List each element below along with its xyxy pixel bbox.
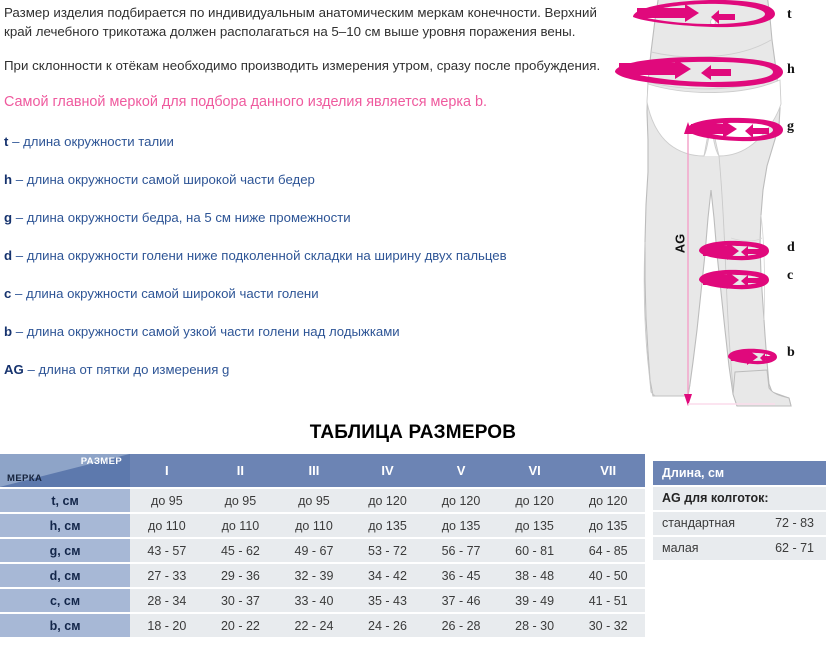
cell-d-4: 34 - 42 — [351, 564, 425, 587]
legend-key-h: h — [4, 172, 12, 187]
illustration-label-h: h — [787, 62, 795, 78]
cell-h-7: до 135 — [571, 514, 645, 537]
cell-t-7: до 120 — [571, 489, 645, 512]
cell-t-6: до 120 — [498, 489, 572, 512]
corner-merka-label: МЕРКА — [7, 473, 42, 484]
illustration-label-t: t — [787, 7, 792, 23]
legend-dash-b: – — [16, 324, 23, 339]
size-chart-page: Размер изделия подбирается по индивидуал… — [0, 0, 826, 651]
length-panel: Длина, см AG для колготок: стандартная 7… — [653, 452, 826, 560]
legend-desc-b: длина окружности самой узкой части голен… — [27, 324, 400, 339]
cell-h-3: до 110 — [277, 514, 351, 537]
table-row: d, см 27 - 33 29 - 36 32 - 39 34 - 42 36… — [0, 564, 645, 587]
cell-t-5: до 120 — [424, 489, 498, 512]
intro-paragraph-1: Размер изделия подбирается по индивидуал… — [4, 4, 604, 41]
legend-item-g: g – длина окружности бедра, на 5 см ниже… — [4, 210, 607, 226]
measurement-legend-list: t – длина окружности талии h – длина окр… — [4, 134, 607, 378]
cell-b-1: 18 - 20 — [130, 614, 204, 637]
length-row-standard: стандартная 72 - 83 — [653, 512, 826, 535]
length-panel-subtitle: AG для колготок: — [653, 487, 826, 510]
legend-dash-c: – — [15, 286, 22, 301]
illustration-label-ag: AG — [672, 234, 687, 254]
size-table-header-row: РАЗМЕР МЕРКА I II III IV V VI VII — [0, 454, 645, 487]
table-row: c, см 28 - 34 30 - 37 33 - 40 35 - 43 37… — [0, 589, 645, 612]
cell-h-1: до 110 — [130, 514, 204, 537]
cell-d-6: 38 - 48 — [498, 564, 572, 587]
length-row-standard-label: стандартная — [662, 516, 735, 530]
cell-g-1: 43 - 57 — [130, 539, 204, 562]
legend-desc-d: длина окружности голени ниже подколенной… — [27, 248, 507, 263]
length-row-small: малая 62 - 71 — [653, 537, 826, 560]
legend-item-d: d – длина окружности голени ниже подколе… — [4, 248, 607, 264]
row-header-b: b, см — [0, 614, 130, 637]
cell-d-7: 40 - 50 — [571, 564, 645, 587]
length-row-standard-value: 72 - 83 — [775, 512, 814, 535]
illustration-label-d: d — [787, 240, 795, 256]
table-row: t, см до 95 до 95 до 95 до 120 до 120 до… — [0, 489, 645, 512]
cell-b-4: 24 - 26 — [351, 614, 425, 637]
legend-item-b: b – длина окружности самой узкой части г… — [4, 324, 607, 340]
cell-c-4: 35 - 43 — [351, 589, 425, 612]
column-header-1: I — [130, 454, 204, 487]
legend-desc-t: длина окружности талии — [23, 134, 174, 149]
length-row-small-value: 62 - 71 — [775, 537, 814, 560]
band-d — [699, 241, 769, 260]
legend-desc-ag: длина от пятки до измерения g — [38, 362, 229, 377]
legend-item-t: t – длина окружности талии — [4, 134, 607, 150]
cell-c-5: 37 - 46 — [424, 589, 498, 612]
cell-d-1: 27 - 33 — [130, 564, 204, 587]
legend-key-t: t — [4, 134, 8, 149]
cell-c-1: 28 - 34 — [130, 589, 204, 612]
instructions-column: Размер изделия подбирается по индивидуал… — [0, 0, 615, 415]
length-panel-header: Длина, см — [653, 461, 826, 485]
row-header-d: d, см — [0, 564, 130, 587]
illustration-label-b: b — [787, 345, 795, 361]
panel-divider — [648, 452, 650, 602]
cell-b-2: 20 - 22 — [204, 614, 278, 637]
cell-b-3: 22 - 24 — [277, 614, 351, 637]
cell-d-3: 32 - 39 — [277, 564, 351, 587]
legend-item-h: h – длина окружности самой широкой части… — [4, 172, 607, 188]
legend-key-b: b — [4, 324, 12, 339]
cell-t-2: до 95 — [204, 489, 278, 512]
cell-b-6: 28 - 30 — [498, 614, 572, 637]
illustration-label-c: c — [787, 268, 793, 284]
cell-g-6: 60 - 81 — [498, 539, 572, 562]
column-header-7: VII — [571, 454, 645, 487]
row-header-t: t, см — [0, 489, 130, 512]
table-corner-cell: РАЗМЕР МЕРКА — [0, 454, 130, 487]
cell-b-7: 30 - 32 — [571, 614, 645, 637]
column-header-3: III — [277, 454, 351, 487]
row-header-h: h, см — [0, 514, 130, 537]
table-row: g, см 43 - 57 45 - 62 49 - 67 53 - 72 56… — [0, 539, 645, 562]
column-header-4: IV — [351, 454, 425, 487]
cell-b-5: 26 - 28 — [424, 614, 498, 637]
cell-c-3: 33 - 40 — [277, 589, 351, 612]
legend-dash-h: – — [16, 172, 23, 187]
legend-item-c: c – длина окружности самой широкой части… — [4, 286, 607, 302]
legend-key-g: g — [4, 210, 12, 225]
legend-dash-ag: – — [27, 362, 34, 377]
cell-h-4: до 135 — [351, 514, 425, 537]
illustration-label-g: g — [787, 119, 794, 135]
legend-key-ag: AG — [4, 362, 24, 377]
legend-item-ag: AG – длина от пятки до измерения g — [4, 362, 607, 378]
cell-c-6: 39 - 49 — [498, 589, 572, 612]
row-header-g: g, см — [0, 539, 130, 562]
cell-h-5: до 135 — [424, 514, 498, 537]
cell-g-5: 56 - 77 — [424, 539, 498, 562]
legend-key-c: c — [4, 286, 11, 301]
size-table: РАЗМЕР МЕРКА I II III IV V VI VII t, см … — [0, 452, 645, 639]
legend-dash-d: – — [16, 248, 23, 263]
legend-desc-h: длина окружности самой широкой части бед… — [27, 172, 315, 187]
cell-g-7: 64 - 85 — [571, 539, 645, 562]
cell-t-4: до 120 — [351, 489, 425, 512]
body-measurement-illustration: t h g d c b AG — [615, 0, 826, 415]
legend-desc-c: длина окружности самой широкой части гол… — [26, 286, 319, 301]
legend-desc-g: длина окружности бедра, на 5 см ниже про… — [27, 210, 351, 225]
legend-dash-g: – — [16, 210, 23, 225]
column-header-6: VI — [498, 454, 572, 487]
cell-d-5: 36 - 45 — [424, 564, 498, 587]
cell-g-2: 45 - 62 — [204, 539, 278, 562]
cell-g-4: 53 - 72 — [351, 539, 425, 562]
cell-t-3: до 95 — [277, 489, 351, 512]
cell-t-1: до 95 — [130, 489, 204, 512]
cell-h-2: до 110 — [204, 514, 278, 537]
highlight-note: Самой главной меркой для подбора данного… — [4, 92, 607, 112]
legend-key-d: d — [4, 248, 12, 263]
page-title: ТАБЛИЦА РАЗМЕРОВ — [0, 422, 826, 444]
size-table-head: РАЗМЕР МЕРКА I II III IV V VI VII — [0, 454, 645, 487]
legend-dash-t: – — [12, 134, 19, 149]
length-row-small-label: малая — [662, 541, 699, 555]
table-row: b, см 18 - 20 20 - 22 22 - 24 24 - 26 26… — [0, 614, 645, 637]
cell-c-2: 30 - 37 — [204, 589, 278, 612]
size-table-body: t, см до 95 до 95 до 95 до 120 до 120 до… — [0, 489, 645, 637]
cell-c-7: 41 - 51 — [571, 589, 645, 612]
cell-h-6: до 135 — [498, 514, 572, 537]
cell-d-2: 29 - 36 — [204, 564, 278, 587]
corner-size-label: РАЗМЕР — [81, 456, 122, 467]
band-c — [699, 270, 769, 289]
column-header-5: V — [424, 454, 498, 487]
column-header-2: II — [204, 454, 278, 487]
table-row: h, см до 110 до 110 до 110 до 135 до 135… — [0, 514, 645, 537]
row-header-c: c, см — [0, 589, 130, 612]
cell-g-3: 49 - 67 — [277, 539, 351, 562]
intro-paragraph-2: При склонности к отёкам необходимо произ… — [4, 57, 604, 76]
